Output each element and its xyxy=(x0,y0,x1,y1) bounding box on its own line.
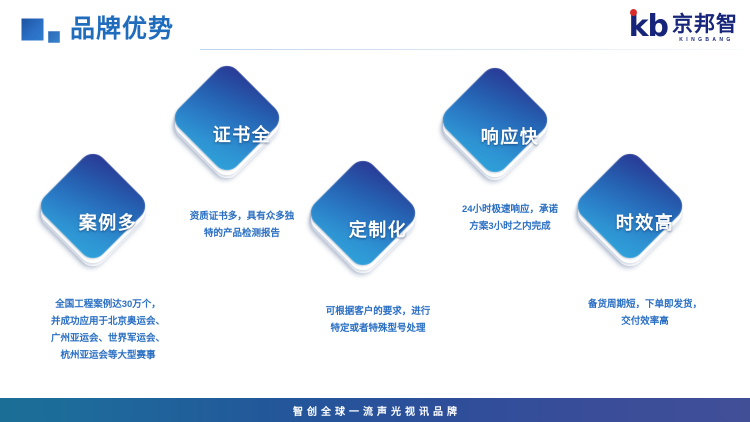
advantage-desc-3: 可根据客户的要求，进行 特定或者特殊型号处理 xyxy=(326,303,431,337)
advantage-desc-4: 24小时极速响应，承诺 方案3小时之内完成 xyxy=(462,201,558,235)
footer-slogan: 智创全球一流声光视讯品牌 xyxy=(289,403,461,418)
desc-line: 全国工程案例达30万个， xyxy=(51,296,165,313)
slide-root: 品牌优势 kb 京邦智 KINGBANG 案例多 全国工程案例达30万个， xyxy=(0,0,750,422)
desc-line: 特定或者特殊型号处理 xyxy=(326,320,431,337)
advantages-board: 案例多 全国工程案例达30万个， 并成功应用于北京奥运会、 广州亚运会、世界军运… xyxy=(0,0,750,422)
diamond-shape-1[interactable]: 案例多 xyxy=(50,164,166,280)
desc-line: 资质证书多，具有众多独 xyxy=(190,208,295,225)
diamond-shape-4[interactable]: 响应快 xyxy=(452,78,568,194)
desc-line: 并成功应用于北京奥运会、 xyxy=(51,313,165,330)
advantage-desc-1: 全国工程案例达30万个， 并成功应用于北京奥运会、 广州亚运会、世界军运会、 杭… xyxy=(51,296,165,364)
desc-line: 方案3小时之内完成 xyxy=(462,218,558,235)
desc-line: 广州亚运会、世界军运会、 xyxy=(51,330,165,347)
desc-line: 杭州亚运会等大型赛事 xyxy=(51,347,165,364)
diamond-face xyxy=(35,148,151,264)
diamond-face xyxy=(305,155,421,271)
diamond-shape-2[interactable]: 证书全 xyxy=(184,76,300,192)
diamond-face xyxy=(169,60,285,176)
diamond-shape-5[interactable]: 时效高 xyxy=(587,164,703,280)
diamond-shape-3[interactable]: 定制化 xyxy=(320,171,436,287)
advantage-desc-5: 备货周期短，下单即发货， 交付效率高 xyxy=(588,296,702,330)
diamond-face xyxy=(572,148,688,264)
desc-line: 可根据客户的要求，进行 xyxy=(326,303,431,320)
advantage-desc-2: 资质证书多，具有众多独 特的产品检测报告 xyxy=(190,208,295,242)
diamond-face xyxy=(437,62,553,178)
desc-line: 交付效率高 xyxy=(588,313,702,330)
desc-line: 24小时极速响应，承诺 xyxy=(462,201,558,218)
desc-line: 备货周期短，下单即发货， xyxy=(588,296,702,313)
slide-footer: 智创全球一流声光视讯品牌 xyxy=(0,398,750,422)
desc-line: 特的产品检测报告 xyxy=(190,225,295,242)
